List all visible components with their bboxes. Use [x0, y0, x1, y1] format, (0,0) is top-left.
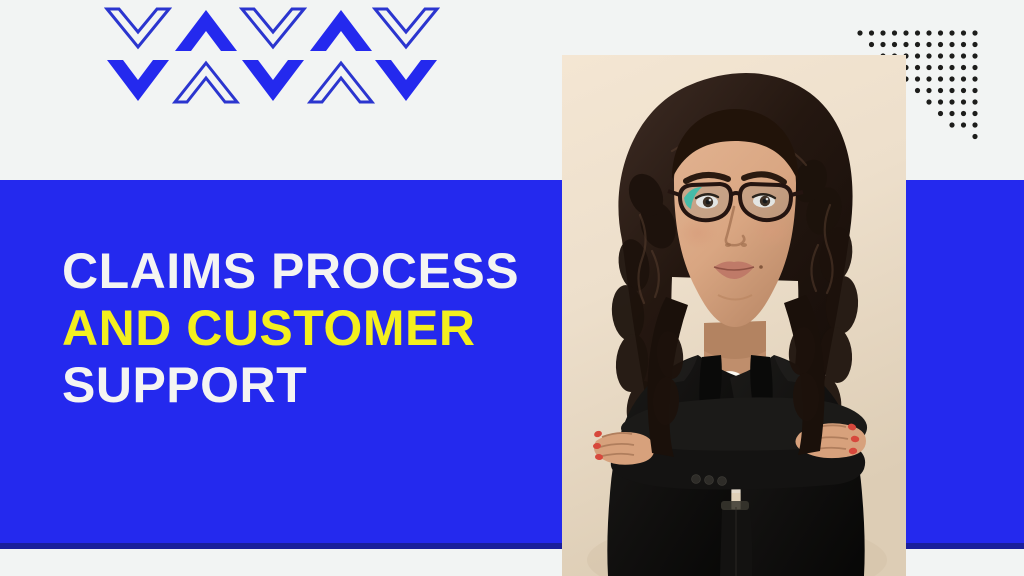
chevron-down-solid-icon	[372, 57, 440, 105]
slide-canvas: CLAIMS PROCESS AND CUSTOMER SUPPORT	[0, 0, 1024, 576]
headline-line-1: CLAIMS PROCESS	[62, 243, 532, 300]
headline-line-3: SUPPORT	[62, 357, 532, 414]
chevron-up-solid-icon	[172, 6, 240, 54]
chevron-up-outline-icon	[172, 57, 240, 105]
logo-row-top	[104, 6, 440, 54]
chevron-down-solid-icon	[104, 57, 172, 105]
chevron-up-outline-icon	[307, 57, 375, 105]
professional-woman-portrait-overlay	[562, 55, 906, 576]
chevron-down-outline-icon	[239, 6, 307, 54]
chevron-pattern-logo	[104, 6, 440, 104]
chevron-up-solid-icon	[307, 6, 375, 54]
logo-row-bottom	[104, 57, 440, 105]
chevron-down-outline-icon	[104, 6, 172, 54]
chevron-down-outline-icon	[372, 6, 440, 54]
headline-line-2: AND CUSTOMER	[62, 300, 532, 357]
page-title: CLAIMS PROCESS AND CUSTOMER SUPPORT	[62, 243, 532, 414]
chevron-down-solid-icon	[239, 57, 307, 105]
